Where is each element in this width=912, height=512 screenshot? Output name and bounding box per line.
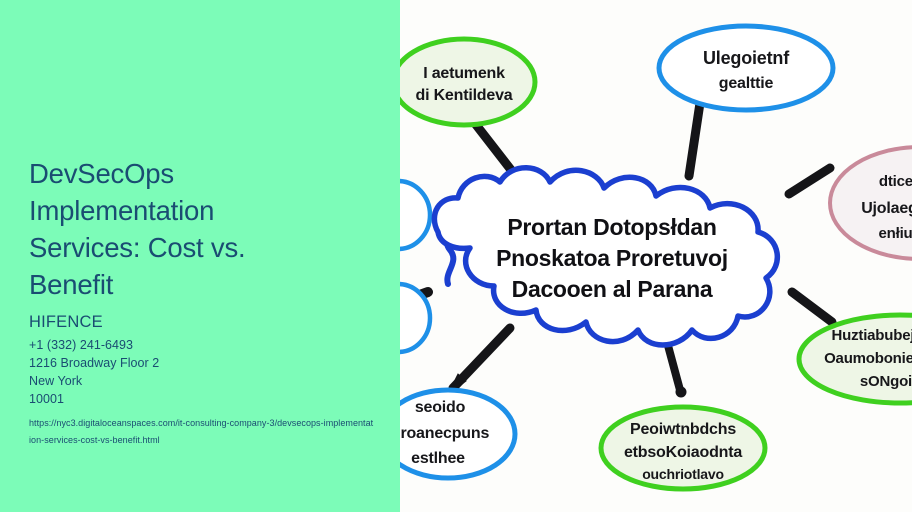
node-right-lower-line-2: Oaumobonieiebtea — [824, 350, 912, 367]
node-top-right-shape[interactable] — [659, 26, 833, 110]
node-top-right-line-2: gealttie — [719, 75, 774, 92]
node-bottom-left-line-1: seoido — [415, 399, 466, 416]
node-bottom-center-line-3: ouchriotlavo — [642, 466, 724, 482]
company-address-city: New York — [29, 372, 379, 390]
center-cloud-line-2: Pnoskatoa Proretuvoj — [496, 245, 728, 271]
company-name: HIFENCE — [29, 312, 379, 333]
node-top-right[interactable]: Ulegoietnf gealttie — [659, 26, 833, 110]
node-bottom-left-line-2: nroanecpuns — [400, 425, 489, 442]
node-bottom-center-line-2: etbsoKoiaodnta — [624, 444, 742, 461]
mindmap-image-panel: Prortan Dotopsłdan Pnoskatoa Proretuvoj … — [400, 0, 912, 512]
left-panel-content: DevSecOps Implementation Services: Cost … — [29, 155, 379, 449]
company-address-street: 1216 Broadway Floor 2 — [29, 354, 379, 372]
node-right-line-3: enłiuo — [879, 225, 912, 242]
mindmap-illustration: Prortan Dotopsłdan Pnoskatoa Proretuvoj … — [400, 0, 912, 512]
page-title: DevSecOps Implementation Services: Cost … — [29, 155, 279, 303]
node-bottom-center[interactable]: Peoiwtnbdchs etbsoKoiaodnta ouchriotlavo — [601, 407, 765, 489]
center-cloud-line-3: Dacooen al Parana — [512, 276, 713, 302]
node-bottom-center-line-1: Peoiwtnbdchs — [630, 421, 736, 438]
page-root: DevSecOps Implementation Services: Cost … — [0, 0, 912, 512]
company-phone: +1 (332) 241-6493 — [29, 336, 379, 354]
company-address-zip: 10001 — [29, 390, 379, 408]
node-right-line-1: dticea — [879, 173, 912, 190]
center-cloud-line-1: Prortan Dotopsłdan — [507, 214, 716, 240]
node-top-left[interactable]: I aetumenk di Kentildeva — [400, 39, 535, 125]
node-right-line-2: Ujolaeglel — [861, 200, 912, 217]
connector-bottom-center-dot — [676, 387, 686, 397]
node-top-right-line-1: Ulegoietnf — [703, 48, 790, 68]
node-top-left-line-2: di Kentildeva — [416, 87, 513, 104]
left-info-panel: DevSecOps Implementation Services: Cost … — [0, 0, 400, 512]
node-right-lower-line-1: Huztiabubejjanvo — [832, 327, 912, 344]
node-top-left-shape[interactable] — [400, 39, 535, 125]
node-bottom-left[interactable]: seoido nroanecpuns estlhee — [400, 390, 515, 478]
node-top-left-line-1: I aetumenk — [423, 65, 505, 82]
source-url[interactable]: https://nyc3.digitaloceanspaces.com/it-c… — [29, 415, 374, 449]
node-right-lower-line-3: sONgoie — [860, 373, 912, 390]
node-bottom-left-line-3: estlhee — [411, 450, 465, 467]
